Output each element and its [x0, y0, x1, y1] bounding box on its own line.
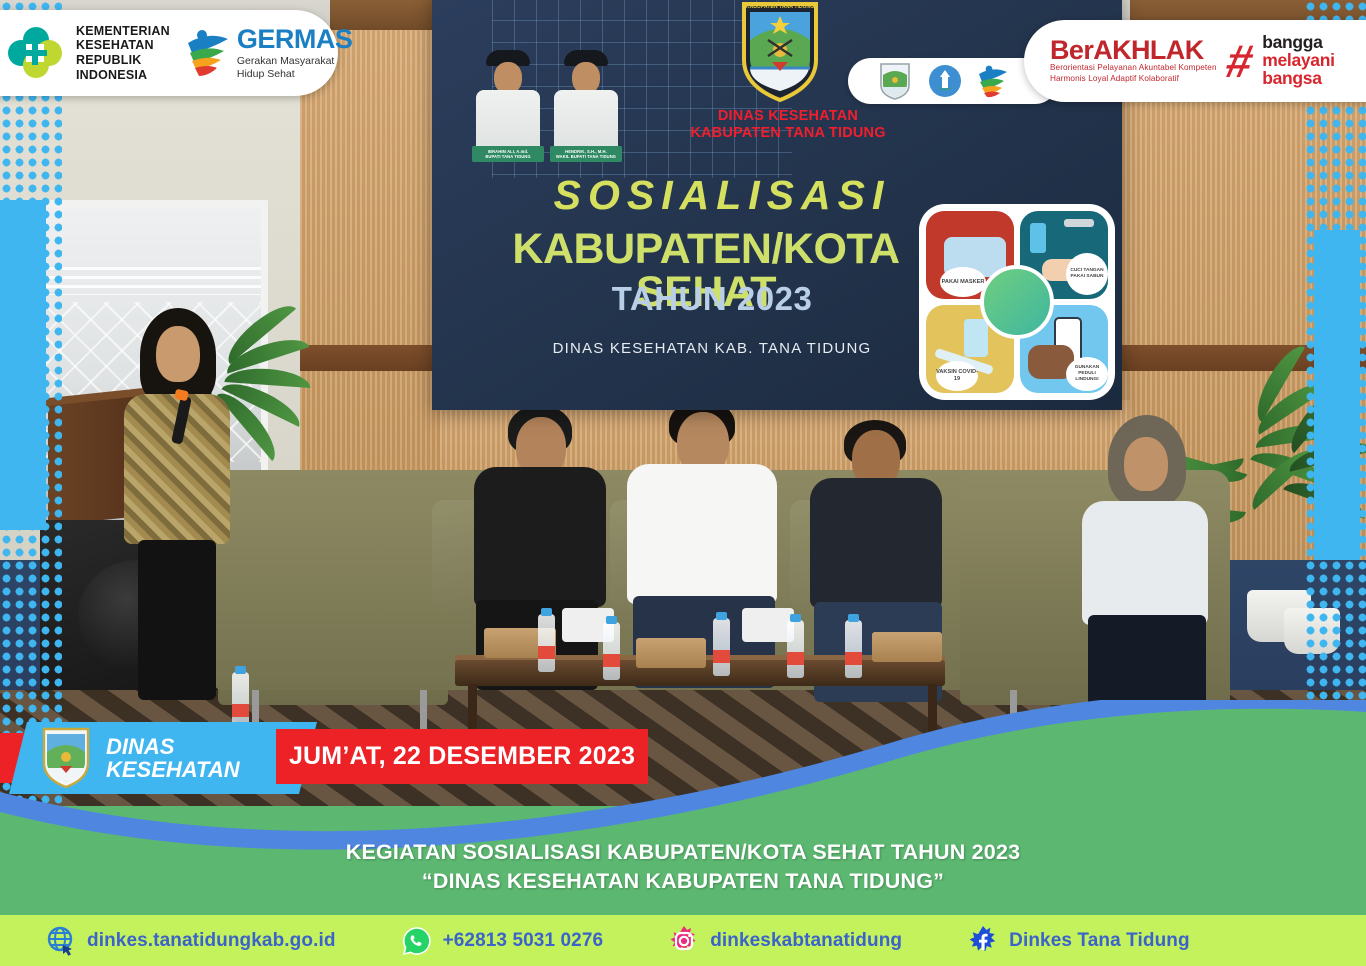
backdrop-title-org: DINAS KESEHATAN KAB. TANA TIDUNG	[472, 340, 952, 357]
wakil-bupati-nameplate: HENDRIK, S.H., M.H. WAKIL BUPATI TANA TI…	[550, 146, 622, 162]
footer-wave	[0, 700, 1366, 860]
poster-root: IBRAHIM ALI, A.md. BUPATI TANA TIDUNG HE…	[0, 0, 1366, 966]
window-lines	[45, 267, 261, 295]
wakil-bupati-title: WAKIL BUPATI TANA TIDUNG	[550, 154, 622, 159]
backdrop-org-line2: KABUPATEN TANA TIDUNG	[628, 125, 948, 142]
germas-title: GERMAS	[237, 26, 353, 53]
footer-title-line1: KEGIATAN SOSIALISASI KABUPATEN/KOTA SEHA…	[0, 838, 1366, 867]
handwash-label: CUCI TANGAN PAKAI SABUN	[1066, 253, 1108, 295]
water-bottle	[538, 614, 555, 672]
footer-title-line2: “DINAS KESEHATAN KABUPATEN TANA TIDUNG”	[0, 867, 1366, 896]
facebook-icon	[968, 926, 998, 956]
germas-small-logo-icon	[978, 64, 1008, 98]
social-distancing-panel	[980, 265, 1054, 339]
vaccine-label: VAKSIN COVID-19	[936, 361, 978, 391]
contact-bar: dinkes.tanatidungkab.go.id +62813 5031 0…	[0, 915, 1366, 966]
kemenkes-label: KEMENTERIAN KESEHATAN REPUBLIK INDONESIA	[76, 24, 170, 83]
snack-box	[636, 638, 706, 668]
water-bottle	[787, 620, 804, 678]
bupati-nameplate: IBRAHIM ALI, A.md. BUPATI TANA TIDUNG	[472, 146, 544, 162]
facebook-label: Dinkes Tana Tidung	[1009, 930, 1190, 952]
berakhlak-sub2: Harmonis Loyal Adaptif Kolaboratif	[1050, 74, 1217, 85]
kemenkes-line3: REPUBLIK	[76, 53, 170, 68]
berakhlak-tagline: Berorientasi Pelayanan Akuntabel Kompete…	[1050, 63, 1217, 84]
halftone-solid-left	[0, 200, 46, 530]
germas-block: GERMAS Gerakan Masyarakat Hidup Sehat	[186, 26, 353, 81]
instagram-icon	[669, 926, 699, 956]
website-label: dinkes.tanatidungkab.go.id	[87, 930, 336, 952]
instagram-label: dinkeskabtanatidung	[710, 930, 902, 952]
contact-facebook[interactable]: Dinkes Tana Tidung	[968, 926, 1190, 956]
backdrop-title-year: TAHUN 2023	[472, 280, 952, 318]
kemenkes-line2: KESEHATAN	[76, 38, 170, 53]
kabupaten-tana-tidung-crest-icon: KABUPATEN TANA TIDUNG	[738, 0, 822, 102]
germas-subtitle: Gerakan Masyarakat Hidup Sehat	[237, 55, 353, 81]
bupati-title: BUPATI TANA TIDUNG	[472, 154, 544, 159]
berakhlak-sub1: Berorientasi Pelayanan Akuntabel Kompete…	[1050, 63, 1217, 74]
kabupaten-crest-small-icon	[878, 61, 912, 101]
backdrop-org-name: DINAS KESEHATAN KABUPATEN TANA TIDUNG	[628, 108, 948, 142]
wakil-bupati-photo: HENDRIK, S.H., M.H. WAKIL BUPATI TANA TI…	[550, 50, 622, 160]
standing-presenter	[118, 308, 236, 708]
whatsapp-icon	[402, 926, 432, 956]
snack-box	[872, 632, 942, 662]
seated-person-4	[1080, 415, 1220, 695]
germas-sub2: Hidup Sehat	[237, 68, 353, 81]
globe-icon	[46, 926, 76, 956]
bupati-photo: IBRAHIM ALI, A.md. BUPATI TANA TIDUNG	[472, 50, 544, 160]
covid-protocol-illustration: PAKAI MASKER CUCI TANGAN PAKAI SABUN VAK…	[919, 204, 1115, 400]
contact-website[interactable]: dinkes.tanatidungkab.go.id	[46, 926, 336, 956]
halftone-solid-right	[1314, 230, 1360, 560]
contact-instagram[interactable]: dinkeskabtanatidung	[669, 926, 902, 956]
contact-whatsapp[interactable]: +62813 5031 0276	[402, 926, 604, 956]
water-bottle	[845, 620, 862, 678]
hashtag-icon: #	[1223, 43, 1256, 80]
pedulilindungi-label: GUNAKAN PEDULI LINDUNGI	[1066, 357, 1108, 391]
header-berakhlak: BerAKHLAK Berorientasi Pelayanan Akuntab…	[1024, 20, 1366, 102]
berakhlak-wordmark: BerAKHLAK	[1050, 38, 1217, 64]
backdrop-org-line1: DINAS KESEHATAN	[628, 108, 948, 125]
mask-label: PAKAI MASKER	[940, 267, 986, 297]
event-photo: IBRAHIM ALI, A.md. BUPATI TANA TIDUNG HE…	[0, 0, 1366, 806]
kemenkes-line1: KEMENTERIAN	[76, 24, 170, 39]
kemenkes-logo-icon	[8, 27, 64, 79]
kemenkes-line4: INDONESIA	[76, 68, 170, 83]
bangga-melayani-bangsa: bangga melayani bangsa	[1262, 34, 1335, 88]
water-bottle	[713, 618, 730, 676]
germas-logo-icon	[186, 27, 230, 79]
water-bottle	[603, 622, 620, 680]
header-kemenkes-germas: KEMENTERIAN KESEHATAN REPUBLIK INDONESIA…	[0, 10, 338, 96]
bupati-photos: IBRAHIM ALI, A.md. BUPATI TANA TIDUNG HE…	[472, 50, 622, 160]
backdrop-title-sosialisasi: SOSIALISASI	[472, 172, 972, 219]
footer-title: KEGIATAN SOSIALISASI KABUPATEN/KOTA SEHA…	[0, 838, 1366, 896]
bangga-line3: bangsa	[1262, 70, 1335, 88]
whatsapp-label: +62813 5031 0276	[443, 930, 604, 952]
puskesmas-logo-icon	[928, 64, 962, 98]
svg-text:KABUPATEN TANA TIDUNG: KABUPATEN TANA TIDUNG	[746, 4, 814, 10]
germas-sub1: Gerakan Masyarakat	[237, 55, 353, 68]
